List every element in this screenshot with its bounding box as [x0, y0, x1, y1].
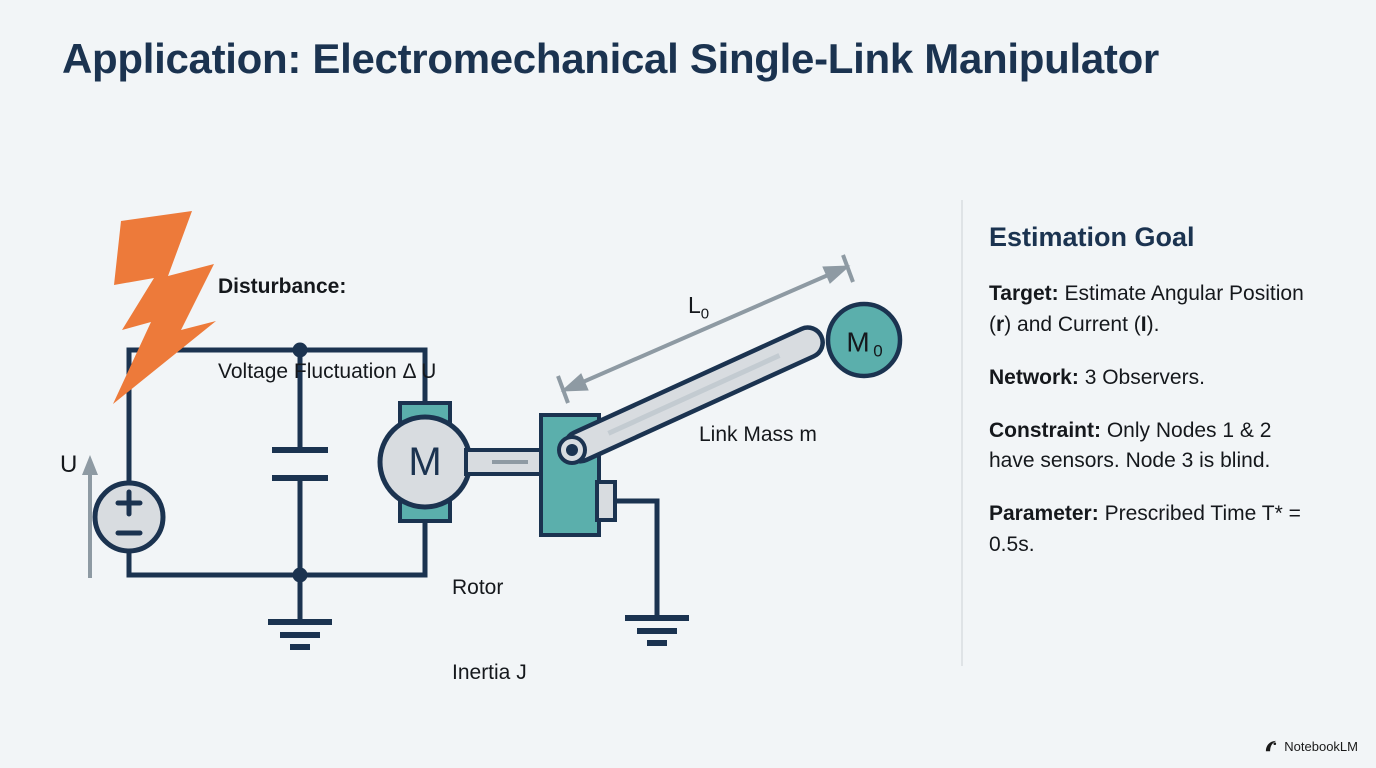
rotor-inertia-label: Rotor Inertia J	[452, 518, 527, 743]
disturbance-label: Disturbance: Voltage Fluctuation Δ U	[218, 217, 436, 442]
rotor-line-2: Inertia J	[452, 659, 527, 687]
network-text: 3 Observers.	[1079, 366, 1205, 389]
constraint-label: Constraint:	[989, 419, 1101, 442]
ground-symbol-gearbox	[615, 501, 689, 643]
vertical-divider	[961, 200, 963, 666]
network-label: Network:	[989, 366, 1079, 389]
panel-row-target: Target: Estimate Angular Position (r) an…	[989, 279, 1319, 341]
lightning-bolt-icon	[113, 211, 216, 404]
target-bold-r: r	[996, 313, 1004, 336]
target-text-after: ).	[1147, 313, 1160, 336]
length-letter: L	[688, 292, 701, 318]
notebooklm-watermark: NotebookLM	[1264, 739, 1358, 754]
panel-heading: Estimation Goal	[989, 222, 1319, 253]
watermark-text: NotebookLM	[1284, 739, 1358, 754]
capacitor-icon	[272, 450, 328, 478]
voltage-source	[95, 483, 163, 551]
panel-row-parameter: Parameter: Prescribed Time T* = 0.5s.	[989, 499, 1319, 561]
notebooklm-logo-icon	[1264, 739, 1279, 754]
length-label: L0	[688, 290, 709, 325]
estimation-goal-panel: Estimation Goal Target: Estimate Angular…	[989, 222, 1319, 583]
rotor-line-1: Rotor	[452, 574, 527, 602]
panel-row-network: Network: 3 Observers.	[989, 363, 1319, 394]
target-label: Target:	[989, 282, 1059, 305]
voltage-label: U	[60, 449, 77, 481]
motor-shaft	[466, 450, 546, 474]
parameter-label: Parameter:	[989, 502, 1099, 525]
end-mass-sub: 0	[873, 342, 882, 361]
panel-row-constraint: Constraint: Only Nodes 1 & 2 have sensor…	[989, 416, 1319, 478]
ground-symbol-circuit	[268, 575, 332, 647]
page-title: Application: Electromechanical Single-Li…	[62, 36, 1332, 82]
end-mass-label: M	[846, 327, 869, 358]
end-mass: M 0	[828, 304, 900, 376]
motor-label: M	[408, 440, 441, 484]
link-mass-label: Link Mass m	[699, 421, 817, 449]
slide-root: Application: Electromechanical Single-Li…	[0, 0, 1376, 768]
target-text-mid: ) and Current (	[1004, 313, 1141, 336]
disturbance-text: Voltage Fluctuation Δ U	[218, 358, 436, 386]
disturbance-title: Disturbance:	[218, 273, 436, 301]
length-subscript: 0	[701, 306, 709, 323]
